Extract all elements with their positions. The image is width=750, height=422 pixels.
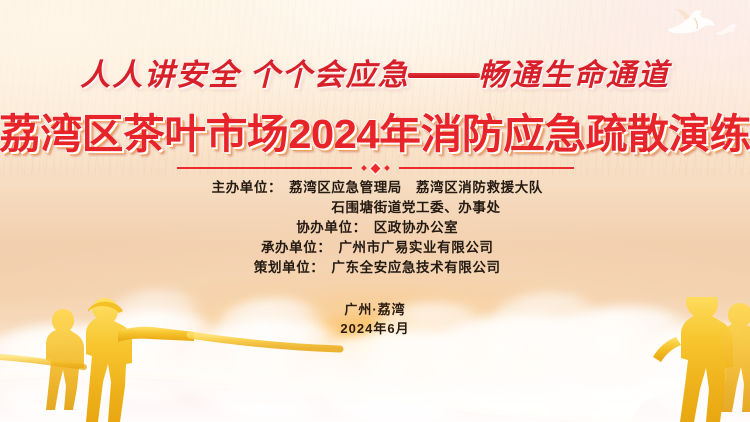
subtitle-part-two: 畅通生命通道 <box>478 59 670 92</box>
organizer-label: 承办单位： <box>256 238 331 258</box>
organizer-label: 策划单位： <box>249 258 324 278</box>
divider-diamond-icon <box>367 160 383 176</box>
organizer-label: 协办单位： <box>292 218 367 238</box>
organizer-row: 主办单位：荔湾区应急管理局 荔湾区消防救援大队 <box>0 178 750 198</box>
organizer-value: 荔湾区应急管理局 荔湾区消防救援大队 <box>282 178 543 198</box>
poster-subtitle: 人人讲安全 个个会应急畅通生命通道 <box>0 50 750 94</box>
organizer-label: 主办单位： <box>207 178 282 198</box>
organizer-row: 承办单位：广州市广易实业有限公司 <box>0 238 750 258</box>
subtitle-dash <box>408 73 480 78</box>
organizer-row: 协办单位：区政协办公室 <box>0 218 750 238</box>
poster-canvas: 人人讲安全 个个会应急畅通生命通道 荔湾区茶叶市场2024年消防应急疏散演练 主… <box>0 0 750 422</box>
footer-place: 广州·荔湾 <box>0 300 750 319</box>
divider-line-left <box>177 167 352 169</box>
footer-block: 广州·荔湾 2024年6月 <box>0 300 750 338</box>
subtitle-part-one: 人人讲安全 个个会应急 <box>80 59 410 92</box>
organizer-value: 广东全安应急技术有限公司 <box>324 258 500 278</box>
poster-main-title: 荔湾区茶叶市场2024年消防应急疏散演练 <box>0 100 750 160</box>
organizer-row: 策划单位：广东全安应急技术有限公司 <box>0 258 750 278</box>
organizer-value: 区政协办公室 <box>367 218 459 238</box>
divider-dot-left <box>361 165 367 171</box>
organizer-block: 主办单位：荔湾区应急管理局 荔湾区消防救援大队 石围塘街道党工委、办事处 协办单… <box>0 178 750 278</box>
decorative-divider <box>0 158 750 178</box>
organizer-value: 石围塘街道党工委、办事处 <box>324 198 500 218</box>
divider-dot-right <box>384 165 390 171</box>
organizer-row: 石围塘街道党工委、办事处 <box>0 198 750 218</box>
divider-line-right <box>399 167 574 169</box>
footer-date: 2024年6月 <box>0 319 750 338</box>
divider-ornament <box>352 163 399 174</box>
organizer-value: 广州市广易实业有限公司 <box>331 238 493 258</box>
poster-content: 人人讲安全 个个会应急畅通生命通道 荔湾区茶叶市场2024年消防应急疏散演练 主… <box>0 0 750 422</box>
